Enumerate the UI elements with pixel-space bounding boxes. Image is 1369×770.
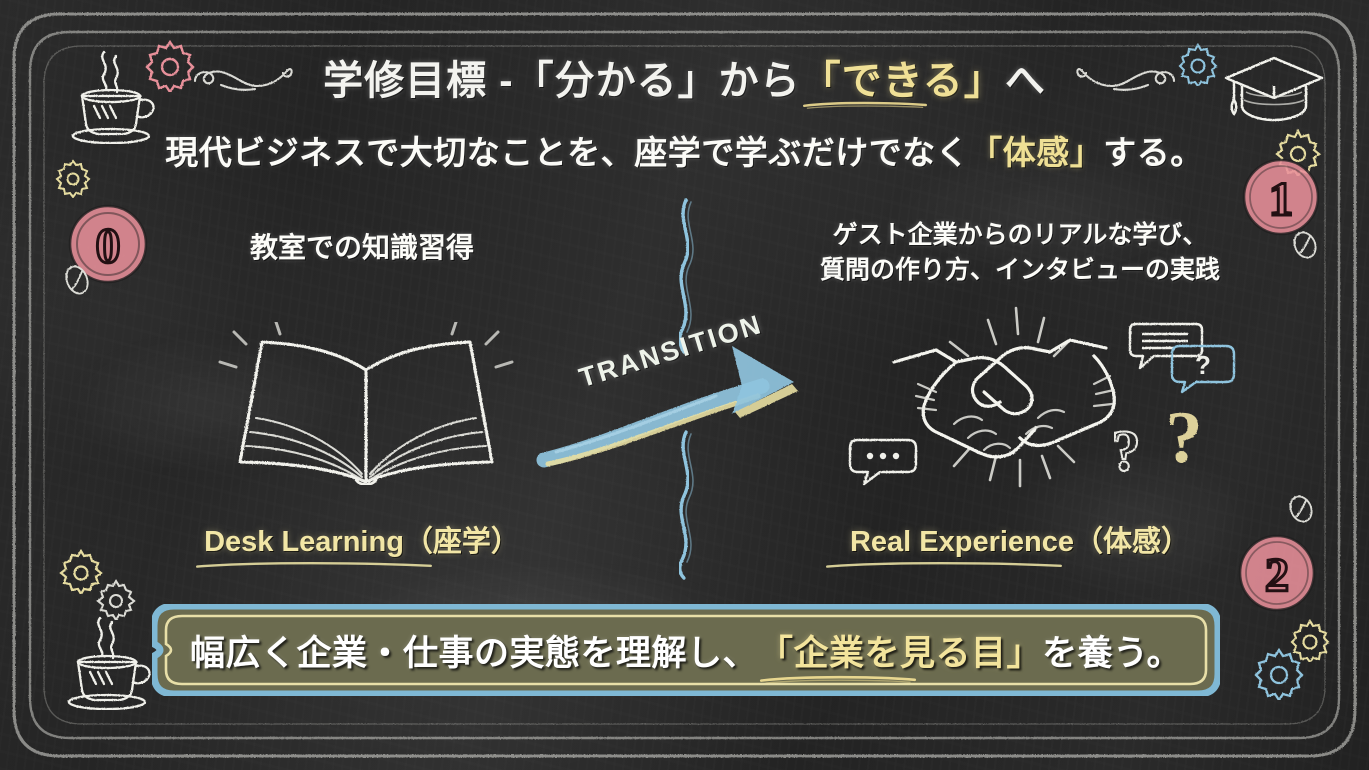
page-title-lead: 学修目標 -「分かる」から [323,59,800,103]
gear-icon [1288,618,1332,667]
page-subtitle-tail: する。 [1103,134,1204,171]
underline-chalk-icon [824,561,1064,569]
right-column-label: Real Experience（体感） [790,518,1250,560]
right-column-heading-line1: ゲスト企業からのリアルな学び、 [760,218,1280,253]
right-column-heading-line2: 質問の作り方、インタビューの実践 [760,253,1280,288]
question-mark-icon: ? [1104,420,1150,491]
coffee-cup-icon [54,614,158,715]
transition-label: TRANSITION [556,303,785,400]
underline-chalk-icon [758,675,918,683]
flourish-swirl-right-icon [1074,61,1178,106]
svg-text:?: ? [1166,400,1203,479]
svg-text:?: ? [1112,420,1141,483]
speech-bubble-dots-icon [846,434,922,493]
page-title-tail: へ [1005,59,1046,103]
handshake-icon [858,300,1188,495]
question-mark-icon: ? [1158,400,1214,487]
summary-banner: 幅広く企業・仕事の実態を理解し、「企業を見る目」を養う。 [152,604,1220,696]
page-subtitle: 現代ビジネスで大切なことを、座学で学ぶだけでなく「体感」する。 [0,126,1369,174]
coffee-bean-icon [62,262,92,303]
coffee-bean-icon [1290,228,1320,267]
gear-icon [1252,646,1306,705]
badge-zero: 0 [62,198,154,295]
underline-chalk-icon [801,101,929,109]
page-title-highlight: 「できる」 [801,59,1005,103]
speech-bubble-icon [1126,318,1206,379]
svg-text:2: 2 [1265,549,1289,602]
gear-icon [58,548,104,599]
right-column-heading: ゲスト企業からのリアルな学び、 質問の作り方、インタビューの実践 [760,218,1280,287]
chalk-smear [60,330,360,480]
page-subtitle-highlight: 「体感」 [969,134,1103,171]
left-column-heading: 教室での知識習得 [152,226,572,266]
summary-banner-highlight: 「企業を見る目」 [758,625,1042,676]
page-title: 学修目標 -「分かる」から「できる」へ [0,48,1369,106]
summary-banner-lead: 幅広く企業・仕事の実態を理解し、 [190,625,758,676]
summary-banner-text: 幅広く企業・仕事の実態を理解し、「企業を見る目」を養う。 [152,604,1220,696]
coffee-bean-icon [1286,492,1316,531]
question-mark-small-icon: ? [1166,340,1240,401]
summary-banner-tail: を養う。 [1042,625,1182,676]
chalkboard-slide: 学修目標 -「分かる」から「できる」へ 現代ビジネスで大切なことを、座学で学ぶだ… [0,0,1369,770]
page-subtitle-lead: 現代ビジネスで大切なことを、座学で学ぶだけでなく [165,134,969,171]
left-column-label: Desk Learning（座学） [152,518,572,560]
svg-text:?: ? [1195,350,1211,380]
gear-icon [95,578,137,625]
flourish-swirl-left-icon [191,61,295,106]
svg-text:0: 0 [96,217,121,273]
wavy-divider-icon [664,430,708,585]
open-book-icon [216,322,516,497]
underline-chalk-icon [194,561,434,569]
